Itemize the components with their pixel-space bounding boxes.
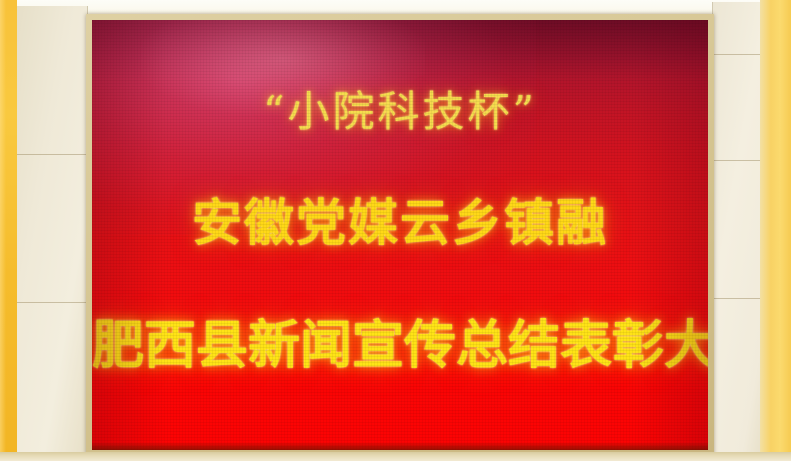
screenshot-root: “小院科技杯” 安徽党媒云乡镇融 肥西县新闻宣传总结表彰大会: [0, 0, 791, 461]
wall-accent-strip-right: [760, 0, 791, 461]
screen-glare: [92, 20, 536, 235]
wall-panel-left: [16, 6, 88, 461]
wall-accent-highlight-left: [0, 0, 6, 461]
screen-line-event-title: 肥西县新闻宣传总结表彰大会: [92, 303, 708, 378]
screen-line-platform-name: 安徽党媒云乡镇融: [92, 183, 708, 255]
floor-trim: [0, 452, 791, 461]
wall-panel-seam: [16, 302, 88, 303]
wall-panel-seam: [16, 154, 88, 155]
led-screen: “小院科技杯” 安徽党媒云乡镇融 肥西县新闻宣传总结表彰大会: [92, 20, 708, 450]
screen-bottom-shading: [92, 442, 708, 450]
led-pixel-texture: [92, 20, 708, 450]
screen-line-award-name: “小院科技杯”: [92, 78, 708, 139]
screen-text-layer: “小院科技杯” 安徽党媒云乡镇融 肥西县新闻宣传总结表彰大会: [92, 20, 708, 450]
screen-top-shading: [92, 20, 708, 80]
screen-vignette: [92, 20, 708, 450]
screen-glare-secondary: [141, 20, 424, 115]
